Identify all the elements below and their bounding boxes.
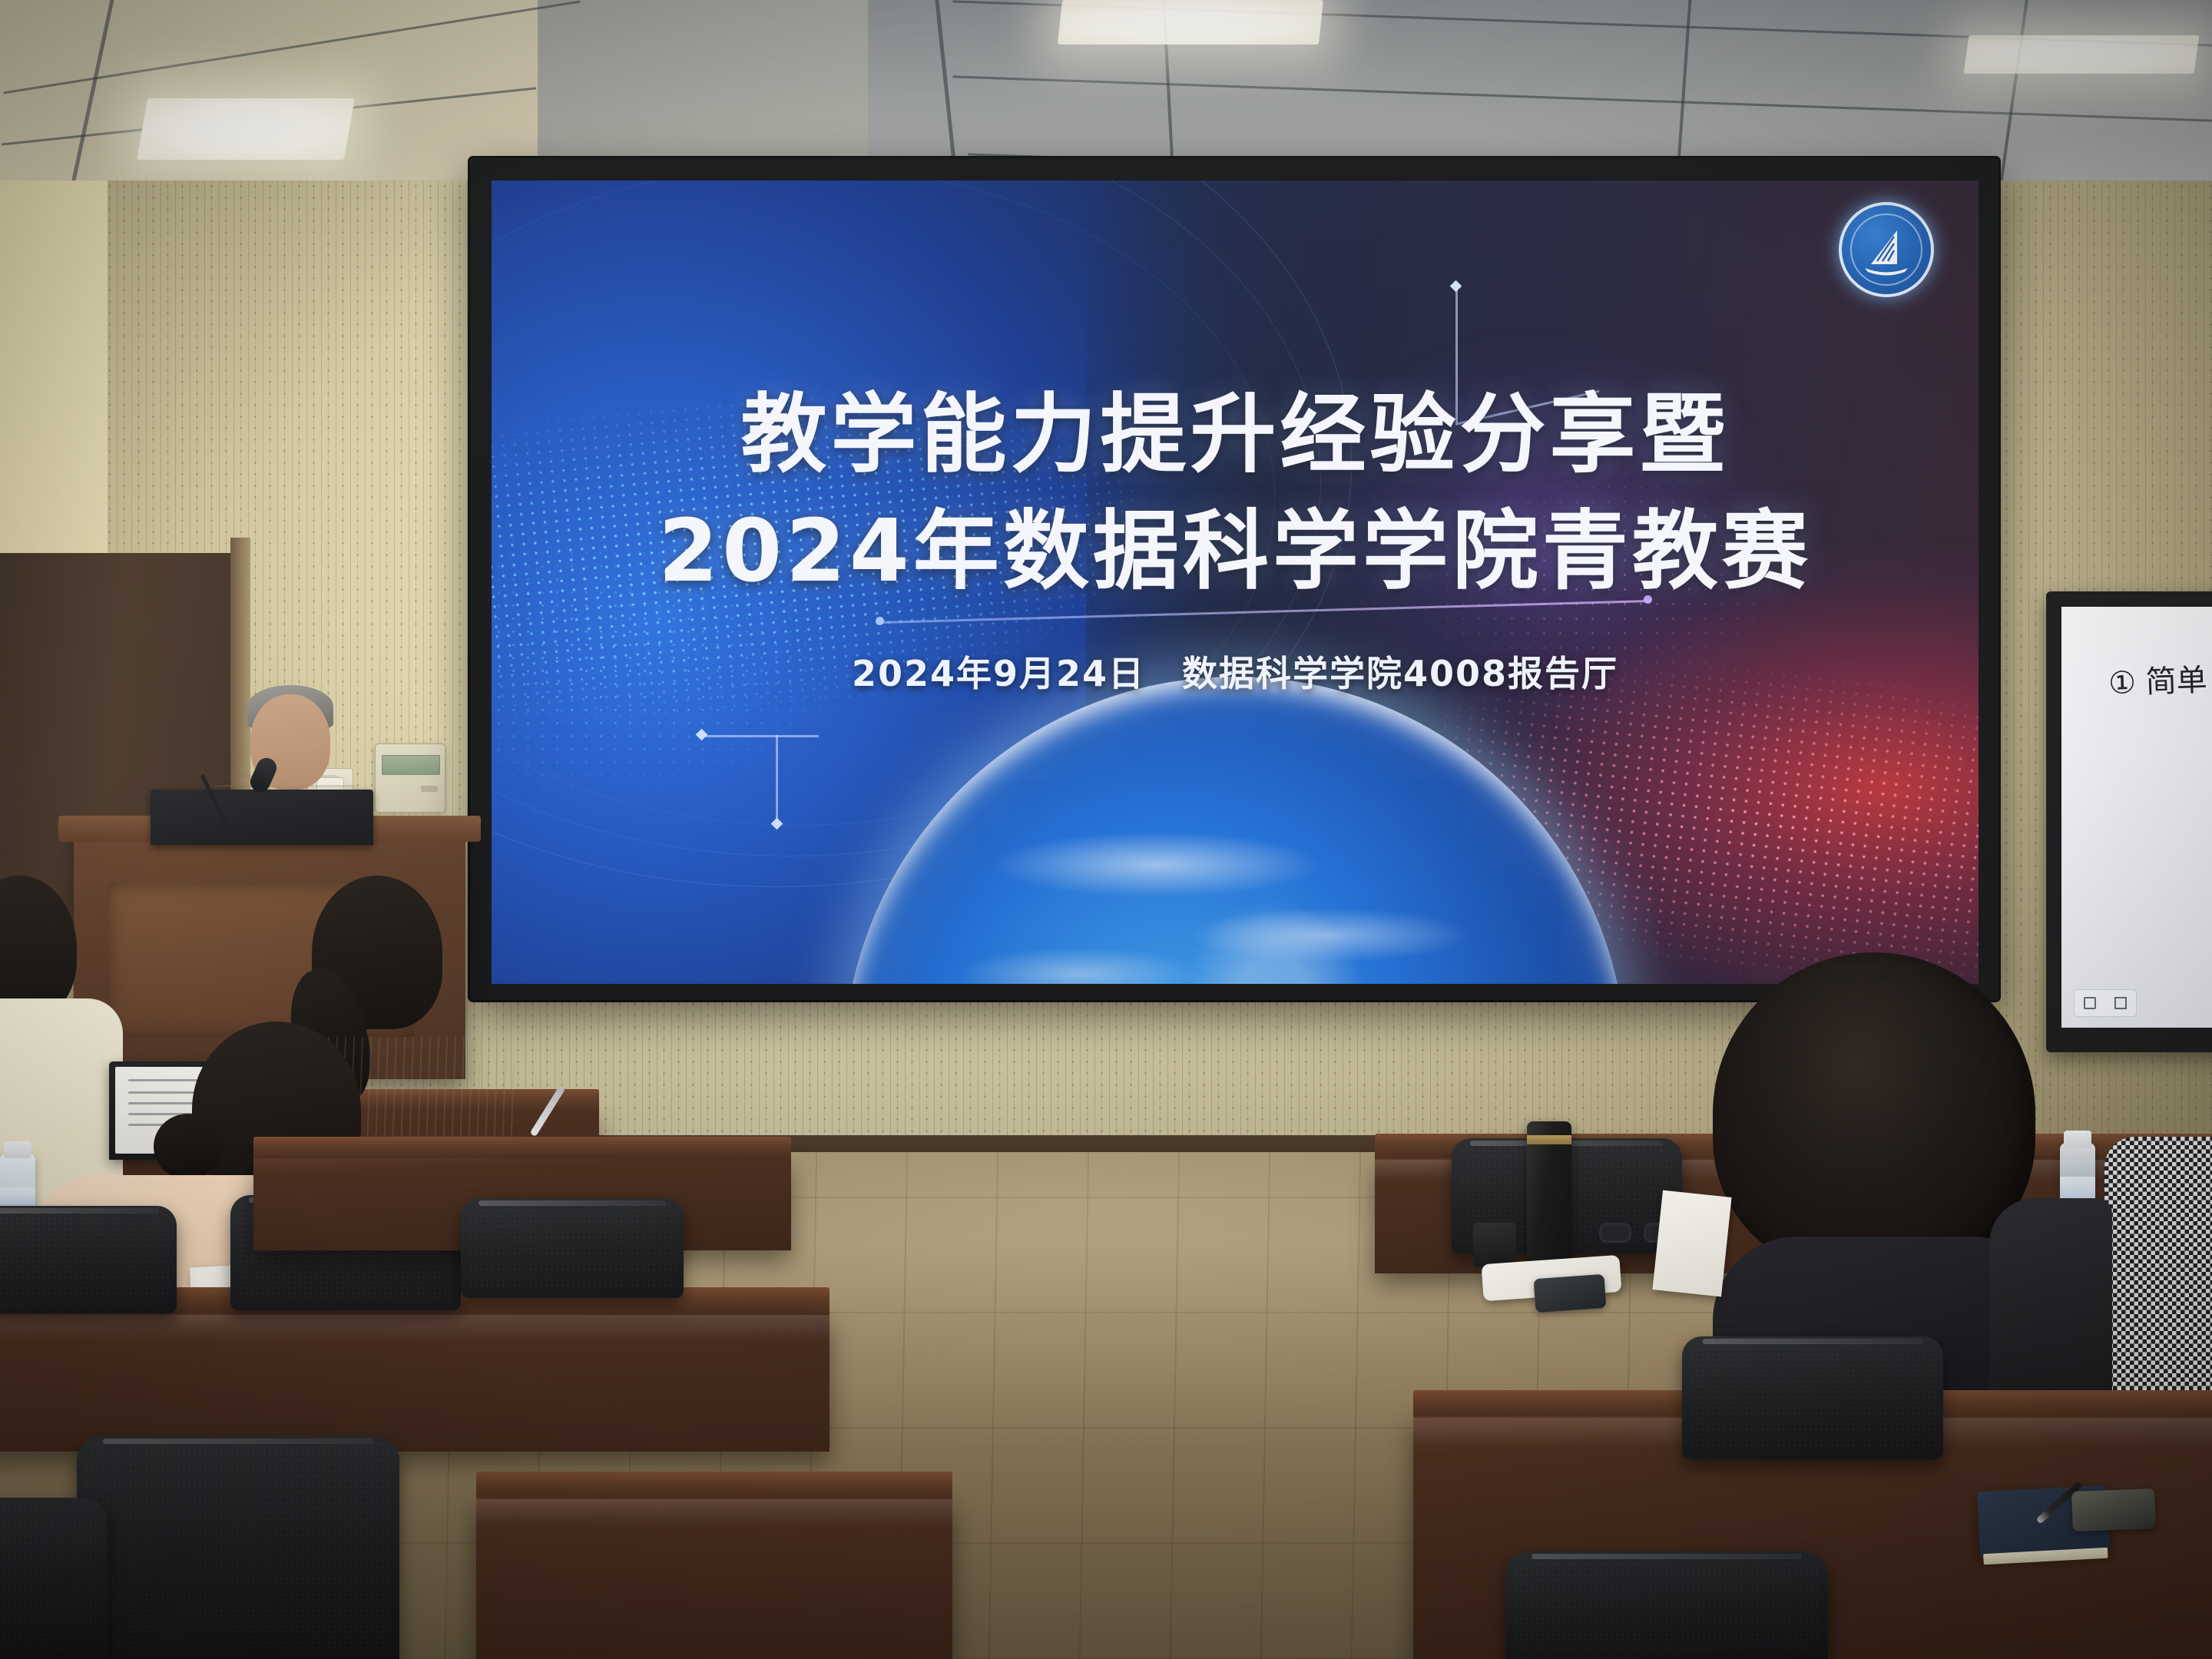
thermostat-button[interactable] <box>421 786 438 792</box>
lecture-hall-photo: 教学能力提升经验分享暨 2024年数据科学学院青教赛 2024年9月24日 数据… <box>0 0 2212 1659</box>
slide-title-line-1: 教学能力提升经验分享暨 <box>492 376 1979 493</box>
thermos-flask[interactable] <box>1527 1121 1571 1264</box>
chair-left-back-1[interactable] <box>0 1206 177 1313</box>
chair-highlight <box>478 1200 666 1206</box>
chair-highlight <box>1532 1554 1803 1559</box>
chair-mesh <box>469 1203 676 1290</box>
slide-title-line-2: 2024年数据科学学院青教赛 <box>492 493 1979 610</box>
chair-highlight <box>0 1208 160 1214</box>
whiteboard-handwriting: ① 简单 <box>2108 655 2208 703</box>
thermos-ring <box>1527 1135 1571 1144</box>
desk-gloss-left <box>0 1315 829 1359</box>
chair-mesh <box>0 1502 100 1651</box>
whiteboard-toolbar[interactable] <box>2074 989 2137 1017</box>
person-checkered <box>2104 1114 2212 1436</box>
glasses-lens-left <box>1599 1223 1631 1243</box>
wall-left-strip <box>0 180 108 565</box>
sail-icon <box>1859 224 1914 278</box>
university-emblem-icon <box>1839 202 1934 297</box>
slide-accent-line <box>704 735 819 737</box>
smartphone-on-notebook[interactable] <box>2071 1488 2156 1532</box>
chair-center-1[interactable] <box>461 1198 684 1298</box>
slide-title: 教学能力提升经验分享暨 2024年数据科学学院青教赛 <box>492 376 1979 611</box>
chair-mesh <box>1513 1556 1820 1651</box>
ceiling-light-panel <box>1963 35 2199 74</box>
chair-mesh <box>1690 1341 1936 1452</box>
chair-highlight <box>1703 1339 1922 1344</box>
share-icon[interactable] <box>2084 997 2096 1009</box>
wall-thermostat[interactable] <box>375 743 445 813</box>
ceiling-light-panel <box>137 98 355 160</box>
desk-gloss-bottom-center <box>476 1499 952 1545</box>
chair-mesh <box>84 1441 392 1651</box>
chair-right-front-2[interactable] <box>1505 1551 1828 1659</box>
chair-left-front-2[interactable] <box>0 1498 108 1659</box>
chair-mesh <box>0 1210 169 1306</box>
chair-right-front-1[interactable] <box>1682 1336 1943 1459</box>
thermostat-display <box>382 755 440 775</box>
led-display-screen[interactable]: 教学能力提升经验分享暨 2024年数据科学学院青教赛 2024年9月24日 数据… <box>492 180 1979 984</box>
smartphone-right-desk[interactable] <box>1534 1274 1607 1313</box>
slide-subtitle: 2024年9月24日 数据科学学院4008报告厅 <box>492 646 1979 697</box>
slide-accent-line <box>776 735 778 826</box>
save-icon[interactable] <box>2114 997 2127 1009</box>
handheld-notes-right <box>1652 1190 1731 1297</box>
chair-highlight <box>103 1439 374 1444</box>
chair-left-front-1[interactable] <box>77 1436 399 1659</box>
bottle-cap <box>2064 1131 2091 1147</box>
thermos-cup[interactable] <box>1473 1223 1516 1267</box>
person-checkered-torso <box>2104 1137 2212 1398</box>
person-curly-hair <box>1713 952 2035 1275</box>
bottle-cap <box>4 1141 31 1158</box>
ceiling-light-panel <box>1058 0 1323 45</box>
person-peach-bun <box>154 1114 223 1180</box>
podium-laptop[interactable] <box>151 790 373 845</box>
